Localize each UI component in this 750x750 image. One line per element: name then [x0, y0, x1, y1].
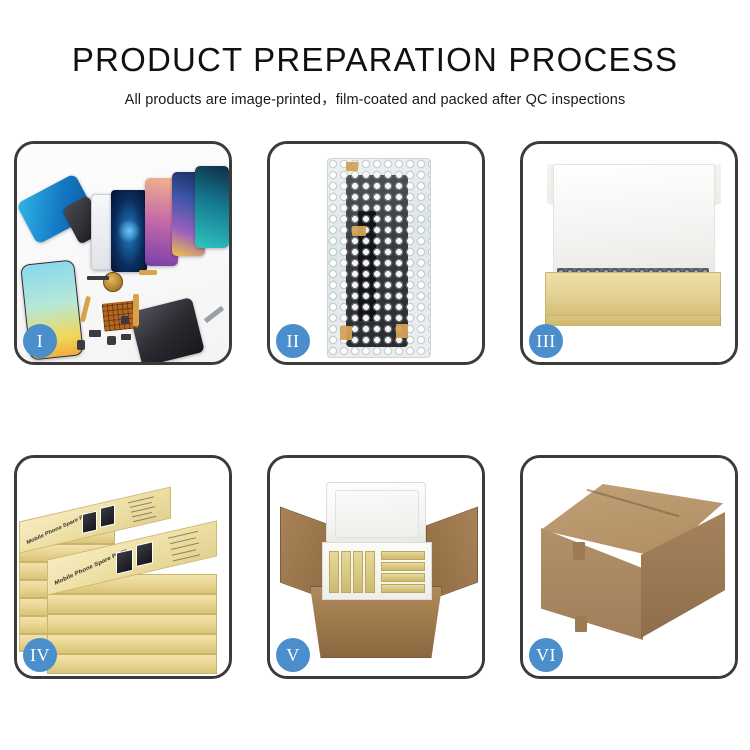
step-badge-3: III [529, 324, 563, 358]
box-lcd-image-front-1 [116, 549, 133, 575]
box-lid-white [553, 164, 715, 276]
chip-part-6 [77, 340, 85, 350]
inner-yellow-box-8 [381, 584, 425, 593]
process-step-card-4[interactable]: Mobile Phone Spare Parts [14, 455, 232, 679]
process-step-card-2[interactable]: II [267, 141, 485, 365]
speaker-coil-part [103, 272, 123, 292]
carton-tape-lower [575, 616, 587, 632]
box-lcd-image-back-1 [82, 511, 97, 534]
tape-piece-bottom-right [396, 324, 408, 338]
flex-cable-2 [133, 294, 139, 326]
page-title: PRODUCT PREPARATION PROCESS [0, 40, 750, 80]
inner-yellow-box-3 [353, 551, 363, 593]
tape-piece-middle [352, 226, 366, 236]
step-badge-2: II [276, 324, 310, 358]
inner-yellow-box-2 [341, 551, 351, 593]
tape-piece-top [346, 162, 358, 171]
foam-box-base [322, 542, 432, 600]
box-lcd-image-back-2 [100, 504, 115, 527]
step-badge-1: I [23, 324, 57, 358]
inner-yellow-box-4 [365, 551, 375, 593]
foam-box-lid-inset [335, 490, 419, 538]
chip-part-2 [89, 330, 101, 337]
step-badge-6: VI [529, 638, 563, 672]
tempered-glass-sheet [91, 194, 113, 270]
tape-piece-bottom-left [340, 326, 352, 340]
inner-yellow-box-5 [381, 551, 425, 560]
process-step-card-5[interactable]: V [267, 455, 485, 679]
chip-part-4 [121, 334, 131, 340]
foam-box-lid [326, 482, 426, 544]
box-spec-line-b5 [133, 516, 156, 523]
process-step-card-3[interactable]: III [520, 141, 738, 365]
chip-part-1 [87, 276, 109, 280]
stacked-box-front-3 [47, 614, 217, 634]
step-badge-5: V [276, 638, 310, 672]
box-lcd-image-front-2 [136, 541, 153, 567]
box-spec-line-f5 [173, 554, 200, 562]
blue-display-screen [111, 190, 147, 272]
step-badge-4: IV [23, 638, 57, 672]
inner-yellow-box-1 [329, 551, 339, 593]
stacked-box-front-5 [47, 654, 217, 674]
chip-part-3 [107, 336, 116, 345]
process-steps-grid: I II [14, 141, 736, 679]
box-tray-yellow [545, 272, 721, 316]
stacked-box-front-4 [47, 634, 217, 654]
header: PRODUCT PREPARATION PROCESS All products… [0, 40, 750, 109]
flex-cable-3 [80, 296, 91, 322]
tweezers-tool [204, 306, 224, 323]
inner-yellow-box-7 [381, 573, 425, 582]
process-step-card-6[interactable]: VI [520, 455, 738, 679]
inner-yellow-box-6 [381, 562, 425, 571]
chip-part-5 [121, 316, 129, 324]
product-preparation-infographic: PRODUCT PREPARATION PROCESS All products… [0, 0, 750, 750]
teal-display-screen [195, 166, 229, 248]
process-step-card-1[interactable]: I [14, 141, 232, 365]
page-subtitle: All products are image-printed，film-coat… [0, 88, 750, 109]
carton-tape-upper [573, 542, 585, 560]
flex-cable-1 [139, 270, 157, 275]
stacked-box-front-2 [47, 594, 217, 614]
phone-back-housing [129, 297, 205, 362]
